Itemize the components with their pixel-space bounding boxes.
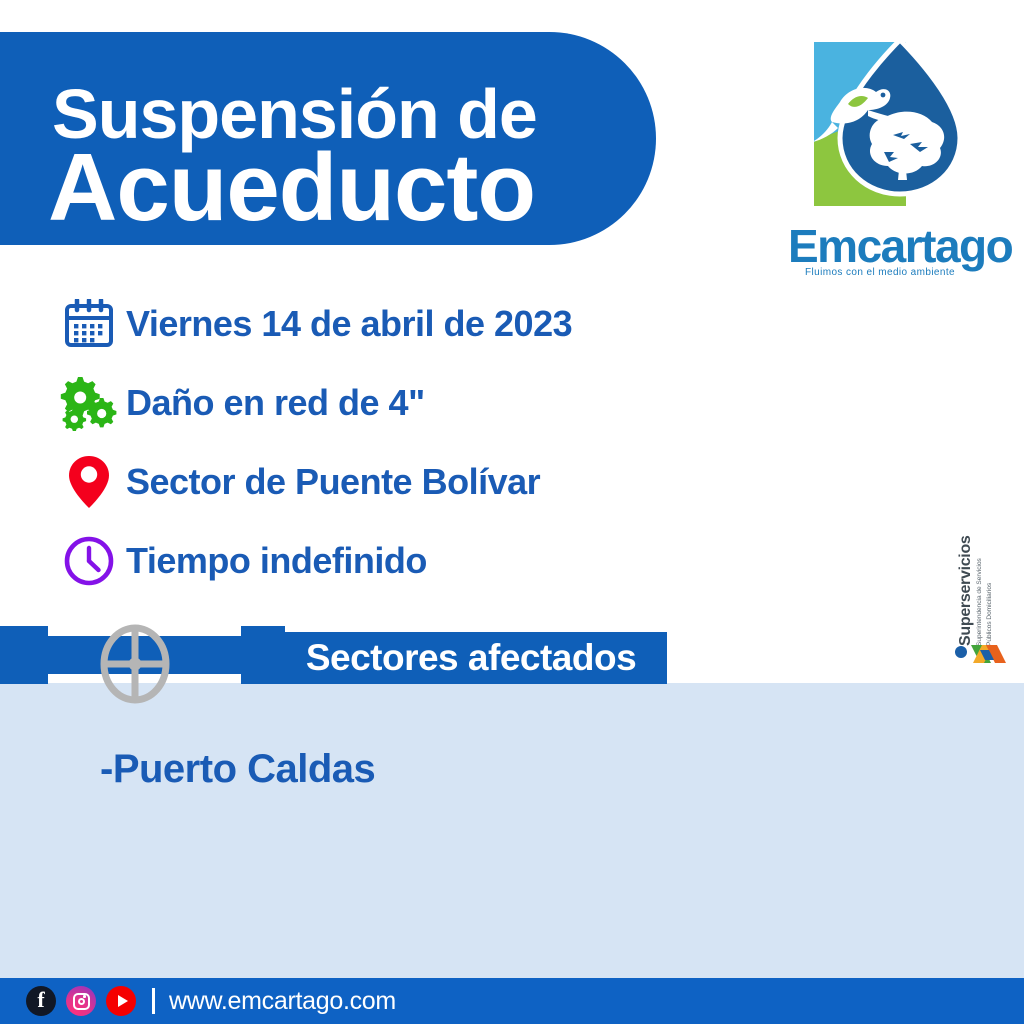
- info-row-cause: Daño en red de 4": [52, 363, 692, 442]
- info-text-date: Viernes 14 de abril de 2023: [126, 303, 572, 345]
- footer-divider: [152, 988, 155, 1014]
- affected-sectors-panel: [0, 683, 1024, 978]
- list-item: -Puerto Caldas: [100, 742, 800, 796]
- superservicios-subtitle-2: Públicos Domiciliarios: [986, 522, 994, 646]
- superservicios-text: Superservicios Superintendencia de Servi…: [958, 522, 998, 646]
- footer-website-url[interactable]: www.emcartago.com: [169, 987, 396, 1016]
- instagram-icon[interactable]: [66, 986, 96, 1016]
- info-row-duration: Tiempo indefinido: [52, 521, 692, 600]
- superservicios-chevrons-icon: [954, 641, 1008, 667]
- instagram-lens: [78, 998, 85, 1005]
- header-banner: Suspensión de Acueducto: [0, 32, 656, 245]
- info-text-location: Sector de Puente Bolívar: [126, 461, 540, 503]
- superservicios-subtitle-1: Superintendencia de Servicios: [976, 522, 984, 646]
- facebook-icon[interactable]: f: [26, 986, 56, 1016]
- water-drop-bird-tree-logo-icon: [788, 34, 972, 224]
- youtube-icon[interactable]: [106, 986, 136, 1016]
- superservicios-title: Superservicios: [958, 522, 974, 646]
- gears-icon: [52, 375, 126, 431]
- footer-bar: f www.emcartago.com: [0, 978, 1024, 1024]
- affected-sectors-list: -Puerto Caldas: [100, 742, 800, 796]
- facebook-glyph: f: [37, 989, 44, 1011]
- emcartago-logo: Emcartago Fluimos con el medio ambiente: [788, 34, 972, 274]
- instagram-frame: [73, 993, 90, 1010]
- logo-tagline: Fluimos con el medio ambiente: [788, 267, 972, 278]
- info-text-cause: Daño en red de 4": [126, 382, 425, 424]
- instagram-dot: [83, 995, 86, 998]
- logo-wordmark: Emcartago: [788, 223, 972, 269]
- affected-sectors-title: Sectores afectados: [275, 632, 667, 684]
- map-pin-icon: [52, 454, 126, 510]
- page-title-line-2: Acueducto: [48, 140, 535, 236]
- incident-info-list: Viernes 14 de abril de 2023 Daño en red …: [52, 284, 692, 600]
- info-row-location: Sector de Puente Bolívar: [52, 442, 692, 521]
- info-row-date: Viernes 14 de abril de 2023: [52, 284, 692, 363]
- youtube-play-glyph: [118, 995, 128, 1007]
- pipe-flange-left: [0, 626, 48, 684]
- calendar-icon: [52, 299, 126, 349]
- clock-icon: [52, 535, 126, 587]
- valve-wheel-icon: [99, 624, 171, 704]
- info-text-duration: Tiempo indefinido: [126, 540, 427, 582]
- superservicios-seal: Superservicios Superintendencia de Servi…: [938, 528, 1018, 680]
